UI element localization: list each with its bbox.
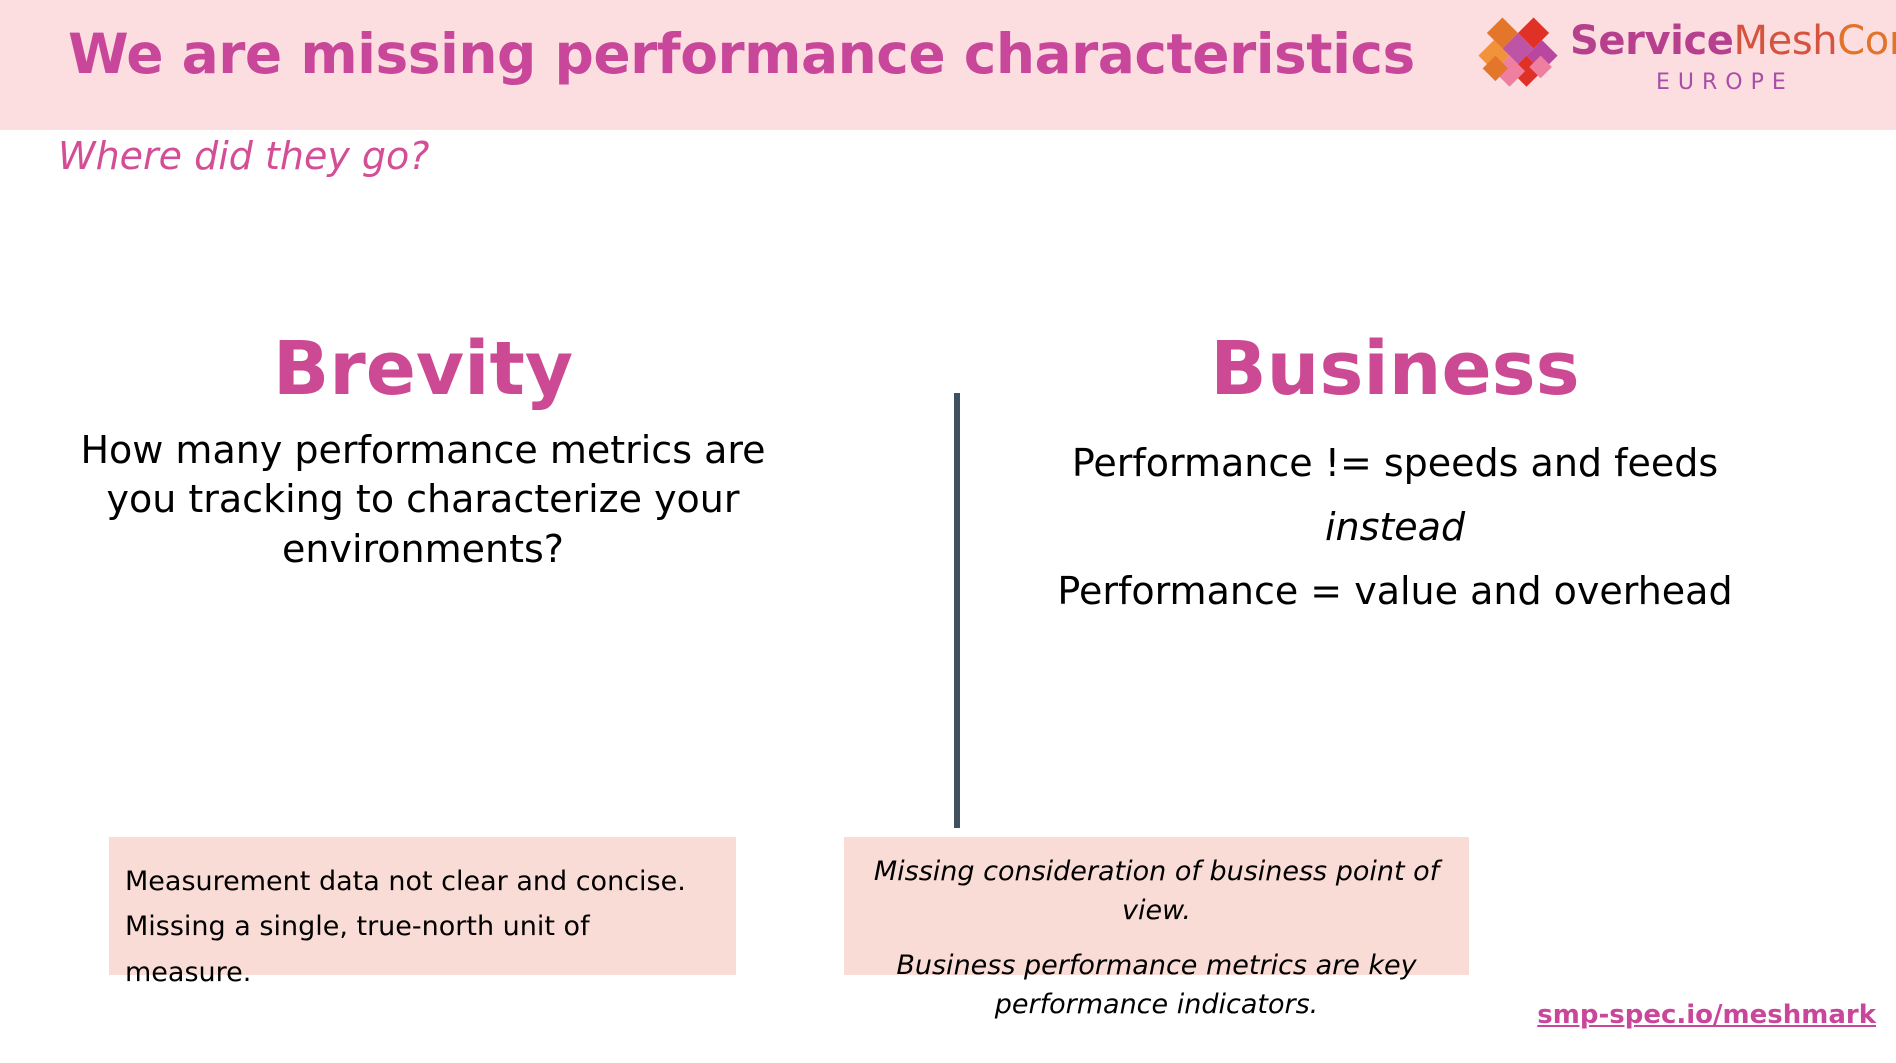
column-brevity: Brevity How many performance metrics are… — [28, 330, 818, 574]
column-heading-brevity: Brevity — [28, 330, 818, 410]
column-body-brevity: How many performance metrics are you tra… — [28, 426, 818, 574]
logo-wordmark-con: Con — [1837, 18, 1896, 64]
column-body-business: Performance != speeds and feeds instead … — [1000, 432, 1790, 623]
column-heading-business: Business — [1000, 330, 1790, 410]
logo-wordmark: ServiceMeshCon — [1570, 18, 1896, 64]
logo-wordmark-service: Service — [1570, 18, 1734, 64]
callout-box-brevity: Measurement data not clear and concise. … — [109, 837, 736, 975]
callout-box-business: Missing consideration of business point … — [844, 837, 1469, 975]
servicemeshcon-diamond-logo-icon — [1476, 8, 1560, 92]
logo-wordmark-mesh: Mesh — [1734, 18, 1838, 64]
body-line: Performance != speeds and feeds — [1000, 432, 1790, 496]
body-line-emphasis: instead — [1000, 496, 1790, 560]
callout-line: Missing consideration of business point … — [862, 853, 1451, 931]
body-line: How many performance metrics are — [28, 426, 818, 475]
column-divider — [954, 393, 960, 828]
body-line: you tracking to characterize your — [28, 475, 818, 524]
slide-subtitle: Where did they go? — [58, 134, 429, 178]
page-title: We are missing performance characteristi… — [68, 22, 1415, 86]
body-line: environments? — [28, 525, 818, 574]
footer-link-smp-spec[interactable]: smp-spec.io/meshmark — [1537, 1000, 1876, 1030]
column-business: Business Performance != speeds and feeds… — [1000, 330, 1790, 623]
body-line: Performance = value and overhead — [1000, 560, 1790, 624]
servicemeshcon-logo: ServiceMeshCon EUROPE — [1470, 4, 1880, 122]
callout-line: Measurement data not clear and concise. — [125, 859, 720, 904]
callout-line: Business performance metrics are key per… — [862, 947, 1451, 1025]
callout-line: Missing a single, true-north unit of mea… — [125, 904, 720, 995]
logo-region-label: EUROPE — [1656, 70, 1794, 95]
